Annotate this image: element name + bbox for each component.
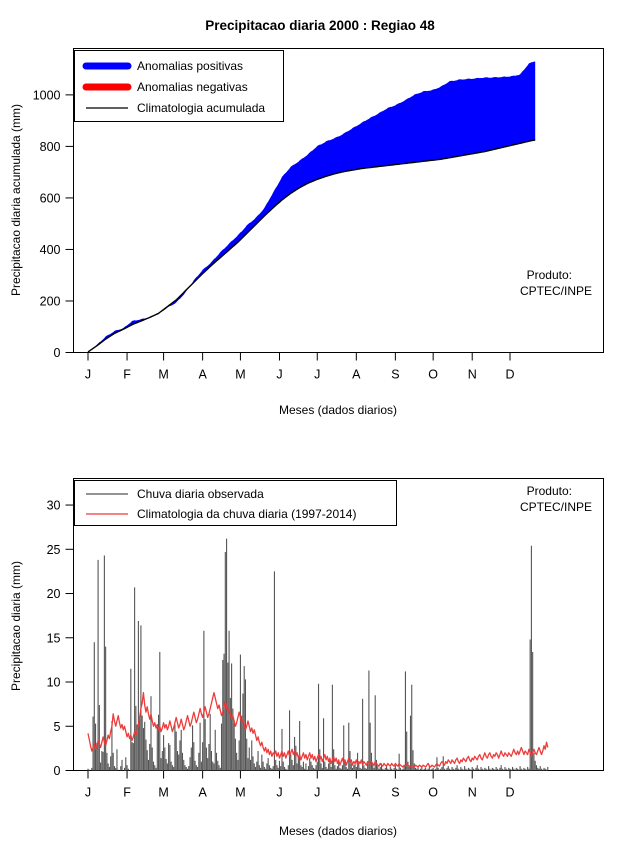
x-tick-label-N: N bbox=[468, 368, 477, 382]
credit-line-2-top: CPTEC/INPE bbox=[520, 284, 592, 298]
credit-line-1-top: Produto: bbox=[527, 268, 572, 282]
x-tick-label-D: D bbox=[505, 786, 514, 800]
y-tick-label-0: 0 bbox=[54, 764, 61, 778]
y-tick-label-400: 400 bbox=[40, 243, 61, 257]
x-tick-label-J: J bbox=[85, 786, 91, 800]
legend-label-climatology-daily: Climatologia da chuva diaria (1997-2014) bbox=[137, 507, 356, 521]
legend-top: Anomalias positivas Anomalias negativas … bbox=[75, 51, 284, 122]
x-tick-label-J: J bbox=[85, 368, 91, 382]
x-tick-label-F: F bbox=[123, 786, 131, 800]
y-tick-label-1000: 1000 bbox=[33, 88, 61, 102]
x-axis-title-top: Meses (dados diarios) bbox=[279, 403, 397, 417]
y-tick-label-200: 200 bbox=[40, 294, 61, 308]
legend-label-negative-anomaly: Anomalias negativas bbox=[137, 80, 248, 94]
legend-label-observed-daily: Chuva diaria observada bbox=[137, 487, 264, 501]
accumulated-chart-svg: Precipitacao diaria 2000 : Regiao 48 020… bbox=[0, 0, 640, 430]
daily-chart-svg: 051015202530 JFMAMJJASOND Precipitacao d… bbox=[0, 430, 640, 850]
legend-label-positive-anomaly: Anomalias positivas bbox=[137, 59, 243, 73]
x-tick-label-A: A bbox=[352, 786, 361, 800]
y-tick-label-25: 25 bbox=[47, 543, 61, 557]
y-tick-label-20: 20 bbox=[47, 587, 61, 601]
x-tick-label-J: J bbox=[314, 786, 320, 800]
x-tick-label-N: N bbox=[468, 786, 477, 800]
y-tick-label-800: 800 bbox=[40, 140, 61, 154]
x-tick-label-D: D bbox=[505, 368, 514, 382]
x-tick-label-M: M bbox=[235, 786, 245, 800]
x-tick-label-S: S bbox=[391, 368, 399, 382]
x-tick-label-J: J bbox=[314, 368, 320, 382]
x-tick-label-A: A bbox=[198, 368, 207, 382]
x-tick-label-O: O bbox=[428, 368, 438, 382]
credit-line-2-bottom: CPTEC/INPE bbox=[520, 500, 592, 514]
legend-label-climatology-accumulated: Climatologia acumulada bbox=[137, 101, 265, 115]
y-tick-label-0: 0 bbox=[54, 346, 61, 360]
x-tick-label-J: J bbox=[276, 786, 282, 800]
page-title: Precipitacao diaria 2000 : Regiao 48 bbox=[205, 18, 435, 33]
x-axis-title-bottom: Meses (dados diarios) bbox=[279, 824, 397, 838]
x-tick-label-M: M bbox=[158, 368, 168, 382]
legend-bottom: Chuva diaria observada Climatologia da c… bbox=[75, 481, 397, 526]
y-tick-label-5: 5 bbox=[54, 720, 61, 734]
credit-line-1-bottom: Produto: bbox=[527, 484, 572, 498]
accumulated-precipitation-chart: Precipitacao diaria 2000 : Regiao 48 020… bbox=[0, 0, 640, 430]
x-tick-label-A: A bbox=[352, 368, 361, 382]
x-tick-label-S: S bbox=[391, 786, 399, 800]
x-tick-label-O: O bbox=[428, 786, 438, 800]
daily-precipitation-chart: 051015202530 JFMAMJJASOND Precipitacao d… bbox=[0, 430, 640, 850]
y-tick-label-30: 30 bbox=[47, 499, 61, 513]
x-tick-label-M: M bbox=[235, 368, 245, 382]
y-axis-title-bottom: Precipitacao diaria (mm) bbox=[9, 561, 23, 691]
x-tick-label-J: J bbox=[276, 368, 282, 382]
y-tick-label-10: 10 bbox=[47, 676, 61, 690]
x-tick-label-M: M bbox=[158, 786, 168, 800]
y-tick-label-15: 15 bbox=[47, 631, 61, 645]
y-axis-title-top: Precipitacao diaria acumulada (mm) bbox=[9, 104, 23, 296]
y-tick-label-600: 600 bbox=[40, 191, 61, 205]
x-tick-label-F: F bbox=[123, 368, 131, 382]
x-tick-label-A: A bbox=[198, 786, 207, 800]
